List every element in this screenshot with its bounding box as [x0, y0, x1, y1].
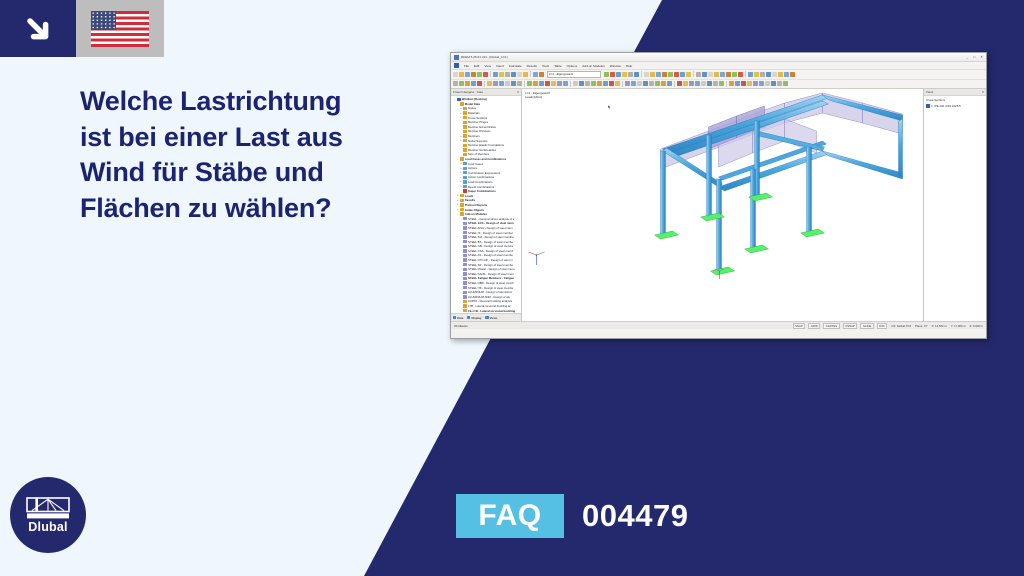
- slide-canvas: Welche Lastrichtung ist bei einer Last a…: [0, 0, 1024, 576]
- tree-expander-icon[interactable]: +: [459, 167, 462, 170]
- window-title: RFEM 5.25.01 x64 - [Dlubal_LC1]: [461, 55, 507, 59]
- tree-expander-icon[interactable]: [459, 309, 462, 312]
- steel-frame-3d-model[interactable]: [522, 89, 923, 321]
- status-readout: Y: 17.000 m: [951, 324, 966, 328]
- tree-expander-icon[interactable]: +: [459, 162, 462, 165]
- tree-expander-icon[interactable]: [459, 286, 462, 289]
- tree-expander-icon[interactable]: [459, 268, 462, 271]
- toolbar-button[interactable]: [732, 72, 737, 77]
- tree-item-label: Member Hinges: [468, 120, 488, 124]
- tree-item-label: STEEL SANS - Design of steel mem: [468, 272, 514, 276]
- tree-node-icon: [463, 235, 467, 238]
- tree-expander-icon[interactable]: +: [459, 171, 462, 174]
- toolbar-separator: [693, 71, 694, 77]
- panel-header: Panel ✕: [924, 89, 986, 96]
- toolbar-separator: [484, 81, 485, 87]
- tree-item-label: Cross-Sections: [468, 116, 487, 120]
- toolbar-button[interactable]: [603, 81, 608, 86]
- toolbar-button[interactable]: [735, 81, 740, 86]
- tree-item-label: STEEL SP - Design of steel membe: [468, 263, 513, 267]
- tree-expander-icon[interactable]: +: [459, 185, 462, 188]
- tree-expander-icon[interactable]: [459, 130, 462, 133]
- tree-item-label: STEEL NBR - Design of steel memb: [468, 281, 514, 285]
- toolbar-button[interactable]: [683, 81, 688, 86]
- toolbar-button[interactable]: [487, 81, 492, 86]
- toolbar-button[interactable]: [668, 72, 673, 77]
- tree-node-icon: [463, 226, 467, 229]
- tree-item-label: Member Elastic Foundations: [468, 143, 504, 147]
- toolbar-button[interactable]: [771, 81, 776, 86]
- toolbar-button[interactable]: [604, 72, 609, 77]
- toolbar-separator: [674, 81, 675, 87]
- toolbar-button[interactable]: [760, 72, 765, 77]
- toolbar-button[interactable]: [628, 72, 633, 77]
- tree-node-icon: [463, 268, 467, 271]
- toolbar-button[interactable]: [714, 72, 719, 77]
- toolbar-button[interactable]: [459, 72, 464, 77]
- tree-item-label: Member Nonlinearities: [468, 148, 496, 152]
- toolbar-button[interactable]: [720, 72, 725, 77]
- tree-expander-icon[interactable]: [459, 153, 462, 156]
- tree-item-label: Nodal Supports: [468, 139, 488, 143]
- toolbar-button[interactable]: [754, 72, 759, 77]
- tree-node-icon: [460, 212, 464, 215]
- toolbar-button[interactable]: [505, 72, 510, 77]
- toolbar-button[interactable]: [505, 81, 510, 86]
- tree-item-label: Members: [468, 134, 480, 138]
- toolbar-button[interactable]: [686, 72, 691, 77]
- toolbar-button[interactable]: [615, 81, 620, 86]
- menu-item-edit[interactable]: Edit: [474, 64, 479, 68]
- toolbar-button[interactable]: [499, 72, 504, 77]
- toolbar-button[interactable]: [533, 72, 538, 77]
- toolbar-button[interactable]: [695, 81, 700, 86]
- page-title: Welche Lastrichtung ist bei einer Last a…: [80, 84, 410, 227]
- toolbar-button[interactable]: [511, 72, 516, 77]
- tree-node-icon: [463, 286, 467, 289]
- tree-node-icon: [463, 180, 467, 183]
- tree-item-label: STEEL CSA - Design of steel memb: [468, 249, 513, 253]
- tree-item-label: KAPPA - Flexural buckling analysis: [468, 299, 512, 303]
- tree-item-label: STEEL Fatigue Members - Fatigue: [468, 276, 514, 280]
- tree-node-icon: [460, 157, 464, 160]
- toolbar-button[interactable]: [545, 81, 550, 86]
- status-toggle[interactable]: DXF: [877, 323, 888, 329]
- toolbar-button[interactable]: [597, 81, 602, 86]
- tree-item-label: Printout Reports: [465, 203, 487, 207]
- toolbar-button[interactable]: [644, 72, 649, 77]
- tree-expander-icon[interactable]: [459, 148, 462, 151]
- tree-item-label: Sets of Members: [468, 152, 490, 156]
- tree-expander-icon[interactable]: +: [456, 194, 459, 197]
- navigator-title: Project Navigator - Data: [453, 90, 483, 94]
- toolbar-button[interactable]: [753, 81, 758, 86]
- toolbar-button[interactable]: [533, 81, 538, 86]
- toolbar-button[interactable]: [616, 72, 621, 77]
- status-toggle[interactable]: OSNAP: [843, 323, 858, 329]
- status-toggle[interactable]: SNAP: [793, 323, 806, 329]
- close-button[interactable]: ✕: [980, 55, 983, 59]
- navigator-tree[interactable]: -Windlast [Desktop]-Model Data+Nodes+Mat…: [451, 96, 521, 313]
- toolbar-button[interactable]: [579, 81, 584, 86]
- tree-expander-icon[interactable]: +: [456, 203, 459, 206]
- toolbar-separator: [570, 81, 571, 87]
- menu-item-options[interactable]: Options: [567, 64, 578, 68]
- tree-expander-icon[interactable]: +: [459, 112, 462, 115]
- tree-expander-icon[interactable]: [459, 121, 462, 124]
- tree-node-icon: [463, 139, 467, 142]
- toolbar-button[interactable]: [680, 72, 685, 77]
- menu-item-view[interactable]: View: [484, 64, 491, 68]
- status-right: CS: Global XYZPlane: XYX: 14.652 mY: 17.…: [891, 324, 983, 328]
- tree-node-icon: [463, 245, 467, 248]
- tree-expander-icon[interactable]: [459, 259, 462, 262]
- tree-node-icon: [463, 116, 467, 119]
- toolbar-button[interactable]: [667, 81, 672, 86]
- tree-expander-icon[interactable]: [459, 217, 462, 220]
- menu-item-calculate[interactable]: Calculate: [509, 64, 522, 68]
- toolbar-button[interactable]: [573, 81, 578, 86]
- toolbar-button[interactable]: [471, 72, 476, 77]
- tree-expander-icon[interactable]: [459, 249, 462, 252]
- toolbar-button[interactable]: [708, 72, 713, 77]
- toolbar-button[interactable]: [493, 81, 498, 86]
- toolbar-button[interactable]: [650, 72, 655, 77]
- tree-expander-icon[interactable]: [459, 125, 462, 128]
- tree-expander-icon[interactable]: +: [459, 116, 462, 119]
- toolbar-separator: [726, 81, 727, 87]
- menu-item-addon-modules[interactable]: Add-on Modules: [582, 64, 605, 68]
- toolbar-button[interactable]: [719, 81, 724, 86]
- tree-node-icon: [463, 240, 467, 243]
- toolbar-button[interactable]: [656, 72, 661, 77]
- rfem-application-window[interactable]: RFEM 5.25.01 x64 - [Dlubal_LC1] _ □ ✕ Fi…: [450, 52, 987, 339]
- tree-expander-icon[interactable]: +: [459, 135, 462, 138]
- tree-item-label: Guide Objects: [465, 208, 484, 212]
- navigator-close-icon[interactable]: ✕: [517, 90, 519, 94]
- tree-expander-icon[interactable]: [459, 263, 462, 266]
- toolbar-button[interactable]: [631, 81, 636, 86]
- toolbar-button[interactable]: [783, 81, 788, 86]
- toolbar-button[interactable]: [674, 72, 679, 77]
- tree-expander-icon[interactable]: +: [459, 139, 462, 142]
- tree-expander-icon[interactable]: +: [459, 176, 462, 179]
- tree-node-icon: [463, 254, 467, 257]
- tree-node-icon: [463, 171, 467, 174]
- toolbar-button[interactable]: [471, 81, 476, 86]
- toolbar-button[interactable]: [713, 81, 718, 86]
- tree-item-label: Model Data: [465, 102, 480, 106]
- navigator-header: Project Navigator - Data ✕: [451, 89, 521, 96]
- tree-expander-icon[interactable]: [459, 300, 462, 303]
- window-controls[interactable]: _ □ ✕: [966, 55, 983, 59]
- side-panel[interactable]: Panel ✕ Cross-Sections 1: IPE 240 | DIN …: [924, 89, 986, 321]
- tree-node-icon: [463, 281, 467, 284]
- tree-item-label: STEEL SIA - Design of steel membe: [468, 235, 514, 239]
- toolbar-button[interactable]: [585, 81, 590, 86]
- tree-item-label: STEEL AS - Design of steel membe: [468, 253, 513, 257]
- toolbar-button[interactable]: [591, 81, 596, 86]
- status-toggle[interactable]: CARTES: [823, 323, 839, 329]
- menu-item-window[interactable]: Window: [610, 64, 621, 68]
- tree-item-label: STEEL EC3 - Design of steel mem: [468, 221, 514, 225]
- nodal-supports: [655, 193, 825, 275]
- panel-close-icon[interactable]: ✕: [982, 90, 984, 94]
- tree-item-label: STEEL Plastic - Design of steel mem: [468, 267, 515, 271]
- toolbar-button[interactable]: [777, 81, 782, 86]
- tree-item-label: Load Combinations: [468, 180, 493, 184]
- tree-node-icon: [463, 258, 467, 261]
- project-navigator[interactable]: Project Navigator - Data ✕ -Windlast [De…: [451, 89, 522, 321]
- panel-section-title: Cross-Sections: [926, 98, 984, 102]
- tree-expander-icon[interactable]: [459, 231, 462, 234]
- model-viewport[interactable]: LC1 - Eigengewicht Loads [kN/m]: [522, 89, 924, 321]
- toolbar-button[interactable]: [634, 72, 639, 77]
- tree-node-icon: [463, 222, 467, 225]
- toolbar-button[interactable]: [551, 81, 556, 86]
- global-axis-triad: [529, 252, 545, 265]
- status-toggle[interactable]: GLINE: [860, 323, 873, 329]
- menu-item-file[interactable]: File: [464, 64, 469, 68]
- toolbar-button[interactable]: [649, 81, 654, 86]
- panel-legend-row[interactable]: 1: IPE 240 | DIN 1025-5: [926, 104, 984, 108]
- toolbar-separator: [641, 71, 642, 77]
- tree-node-icon: [463, 309, 467, 312]
- tree-node-icon: [463, 153, 467, 156]
- menu-bar[interactable]: File Edit View Insert Calculate Results …: [451, 62, 986, 70]
- toolbar-button[interactable]: [707, 81, 712, 86]
- toolbar-button[interactable]: [772, 72, 777, 77]
- tree-item-label: Results: [465, 198, 475, 202]
- toolbar-button[interactable]: [738, 72, 743, 77]
- tree-expander-icon[interactable]: [459, 222, 462, 225]
- tree-node-icon: [463, 185, 467, 188]
- toolbar-button[interactable]: [696, 72, 701, 77]
- tree-item-label: Loads: [465, 194, 473, 198]
- tree-node-icon: [463, 263, 467, 266]
- maximize-button[interactable]: □: [973, 55, 975, 59]
- tree-expander-icon[interactable]: [459, 295, 462, 298]
- tree-item-label: Load Cases and Combinations: [465, 157, 507, 161]
- tree-node-icon: [463, 167, 467, 170]
- tree-item-label: STEEL - General stress analysis of s: [468, 217, 514, 221]
- menu-item-results[interactable]: Results: [527, 64, 537, 68]
- tree-expander-icon[interactable]: -: [456, 102, 459, 105]
- toolbar-button[interactable]: [747, 81, 752, 86]
- tree-expander-icon[interactable]: [459, 305, 462, 308]
- toolbar-button[interactable]: [465, 81, 470, 86]
- toolbar-button[interactable]: [702, 72, 707, 77]
- toolbar-separator: [745, 71, 746, 77]
- tree-item-label: Combination Expressions: [468, 171, 500, 175]
- toolbar-button[interactable]: [523, 72, 528, 77]
- menu-app-icon: [454, 63, 459, 68]
- tree-expander-icon[interactable]: [459, 190, 462, 193]
- tree-item-label: STEEL NTC-DF - Design of steel m: [468, 258, 513, 262]
- tree-item-label: ALUMINIUM ADM - Design of alu: [468, 295, 510, 299]
- main-toolbar[interactable]: LC1 - Eigengewicht: [451, 70, 986, 80]
- faq-number: 004479: [582, 494, 688, 538]
- tree-expander-icon[interactable]: [459, 277, 462, 280]
- menu-item-tools[interactable]: Tools: [542, 64, 549, 68]
- toolbar-button[interactable]: [517, 72, 522, 77]
- tree-expander-icon[interactable]: +: [459, 180, 462, 183]
- tree-item-label: Member Divisions: [468, 129, 491, 133]
- toolbar-button[interactable]: [557, 81, 562, 86]
- toolbar-button[interactable]: [655, 81, 660, 86]
- tree-item-label: Result Combinations: [468, 185, 494, 189]
- toolbar-button[interactable]: [622, 72, 627, 77]
- toolbar-button[interactable]: [459, 81, 464, 86]
- toolbar-button[interactable]: [677, 81, 682, 86]
- navigator-tab-data[interactable]: Data: [453, 316, 463, 320]
- status-bar: Windlasten SNAPGRIDCARTESOSNAPGLINEDXF C…: [451, 321, 986, 329]
- toolbar-button[interactable]: [453, 81, 458, 86]
- tree-expander-icon[interactable]: [459, 272, 462, 275]
- tree-node-icon: [463, 189, 467, 192]
- toolbar-button[interactable]: [477, 81, 482, 86]
- status-left: Windlasten: [454, 324, 468, 328]
- tree-node-icon: [460, 203, 464, 206]
- menu-item-insert[interactable]: Insert: [496, 64, 504, 68]
- tree-node-icon: [460, 208, 464, 211]
- faq-badge: FAQ: [456, 494, 564, 538]
- toolbar-button[interactable]: [453, 72, 458, 77]
- toolbar-button[interactable]: [643, 81, 648, 86]
- toolbar-button[interactable]: [625, 81, 630, 86]
- panel-legend-label: 1: IPE 240 | DIN 1025-5: [931, 104, 961, 108]
- toolbar-button[interactable]: [493, 72, 498, 77]
- roof-beams: [663, 95, 903, 191]
- tree-node-icon: [463, 300, 467, 303]
- status-toggle[interactable]: GRID: [808, 323, 820, 329]
- toolbar-button[interactable]: [609, 81, 614, 86]
- tree-node-icon: [457, 98, 461, 101]
- tree-node-icon: [463, 125, 467, 128]
- toolbar-separator: [622, 81, 623, 87]
- toolbar-button[interactable]: [511, 81, 516, 86]
- status-readout: X: 14.652 m: [932, 324, 947, 328]
- load-case-select[interactable]: LC1 - Eigengewicht: [547, 71, 601, 79]
- tree-item-label: STEEL GB - Design of steel membe: [468, 244, 513, 248]
- tree-expander-icon[interactable]: -: [456, 213, 459, 216]
- toolbar-separator: [524, 81, 525, 87]
- tree-expander-icon[interactable]: +: [456, 199, 459, 202]
- brand-name: Dlubal: [28, 520, 67, 534]
- tree-item-label: STEEL BS - Design of steel membe: [468, 240, 513, 244]
- menu-item-help[interactable]: Help: [626, 64, 632, 68]
- window-titlebar: RFEM 5.25.01 x64 - [Dlubal_LC1] _ □ ✕: [451, 53, 986, 62]
- tree-node-icon: [463, 304, 467, 307]
- toolbar-button[interactable]: [701, 81, 706, 86]
- app-icon: [454, 55, 459, 60]
- tree-node-icon: [463, 249, 467, 252]
- toolbar-button[interactable]: [539, 81, 544, 86]
- toolbar-button[interactable]: [766, 72, 771, 77]
- toolbar-button[interactable]: [729, 81, 734, 86]
- tree-expander-icon[interactable]: +: [456, 208, 459, 211]
- toolbar-button[interactable]: [563, 81, 568, 86]
- status-toggles[interactable]: SNAPGRIDCARTESOSNAPGLINEDXF: [793, 323, 888, 329]
- tree-item-label: Super Combinations: [468, 189, 496, 193]
- faq-label: FAQ: [478, 499, 541, 533]
- toolbar-button[interactable]: [517, 81, 522, 86]
- tree-expander-icon[interactable]: [459, 226, 462, 229]
- tree-item-label: Actions: [468, 166, 477, 170]
- tree-node-icon: [463, 107, 467, 110]
- toolbar-button[interactable]: [726, 72, 731, 77]
- tree-expander-icon[interactable]: [459, 236, 462, 239]
- headline-line-4: Flächen zu wählen?: [80, 191, 410, 227]
- headline-line-1: Welche Lastrichtung: [80, 84, 410, 120]
- tree-expander-icon[interactable]: [459, 291, 462, 294]
- tree-expander-icon[interactable]: +: [459, 107, 462, 110]
- toolbar-separator: [530, 71, 531, 77]
- menu-item-table[interactable]: Table: [554, 64, 561, 68]
- toolbar-button[interactable]: [465, 72, 470, 77]
- tree-item-label: ALUMINIUM - Design of aluminium: [468, 290, 512, 294]
- panel-title: Panel: [926, 90, 933, 94]
- minimize-button[interactable]: _: [966, 55, 968, 59]
- toolbar-button[interactable]: [483, 72, 488, 77]
- tree-item-label: Action Combinations: [468, 175, 494, 179]
- toolbar-button[interactable]: [637, 81, 642, 86]
- tree-node-icon: [460, 199, 464, 202]
- navigator-tab-display[interactable]: Display: [467, 316, 481, 320]
- panel-body: Cross-Sections 1: IPE 240 | DIN 1025-5: [924, 96, 986, 110]
- color-swatch-icon: [926, 104, 930, 108]
- toolbar-button[interactable]: [499, 81, 504, 86]
- tree-node-icon: [463, 121, 467, 124]
- toolbar-button[interactable]: [527, 81, 532, 86]
- tree-expander-icon[interactable]: [459, 240, 462, 243]
- tree-item-label: STEEL IS - Design of steel member: [468, 231, 513, 235]
- tree-expander-icon[interactable]: -: [456, 158, 459, 161]
- toolbar-button[interactable]: [765, 81, 770, 86]
- toolbar-button[interactable]: [778, 72, 783, 77]
- toolbar-button[interactable]: [689, 81, 694, 86]
- toolbar-button[interactable]: [741, 81, 746, 86]
- tree-item-label: Add-on Modules: [465, 212, 487, 216]
- toolbar-button[interactable]: [477, 72, 482, 77]
- tree-expander-icon[interactable]: [459, 144, 462, 147]
- tree-expander-icon[interactable]: [459, 282, 462, 285]
- tree-item-label: STEEL AISC - Design of steel mem: [468, 226, 513, 230]
- dlubal-logo: Dlubal: [10, 477, 86, 553]
- tree-item-label: Windlast [Desktop]: [462, 97, 488, 101]
- tree-node-icon: [463, 217, 467, 220]
- tree-expander-icon[interactable]: [459, 254, 462, 257]
- toolbar-button[interactable]: [784, 72, 789, 77]
- arrow-down-right-icon: [0, 0, 76, 57]
- tree-item-label: Materials: [468, 111, 480, 115]
- tree-node-icon: [460, 102, 464, 105]
- toolbar-button[interactable]: [539, 72, 544, 77]
- toolbar-button[interactable]: [748, 72, 753, 77]
- toolbar-button[interactable]: [661, 81, 666, 86]
- tree-expander-icon[interactable]: [459, 245, 462, 248]
- toolbar-button[interactable]: [790, 72, 795, 77]
- toolbar-button[interactable]: [759, 81, 764, 86]
- navigator-tab-views[interactable]: Views: [485, 316, 497, 320]
- tree-expander-icon[interactable]: -: [453, 98, 456, 101]
- toolbar-button[interactable]: [662, 72, 667, 77]
- secondary-toolbar[interactable]: [451, 80, 986, 90]
- tree-node-icon: [463, 272, 467, 275]
- tree-item-label: LTB - Lateral-torsional buckling an: [468, 304, 511, 308]
- navigator-tabs[interactable]: Data Display Views: [451, 313, 521, 321]
- toolbar-button[interactable]: [610, 72, 615, 77]
